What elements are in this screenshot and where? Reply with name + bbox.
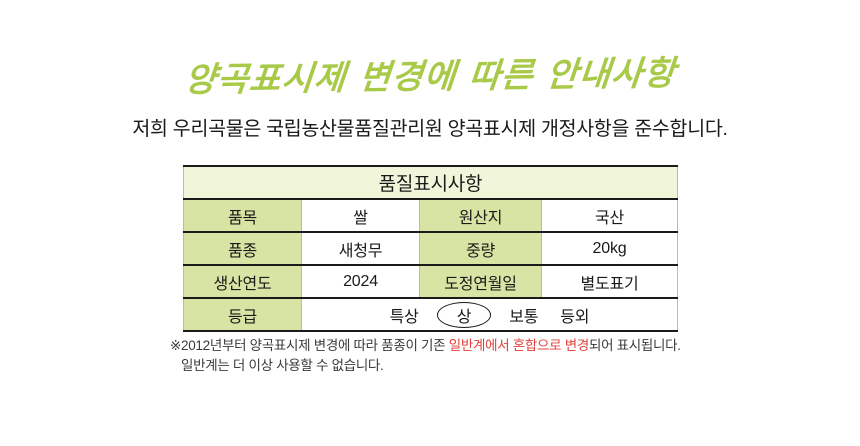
table-row: 품목 쌀 원산지 국산 [184,199,678,232]
page-title: 양곡표시제 변경에 따른 안내사항 [183,55,678,101]
row-label-item: 품목 [184,199,302,232]
row-value-variety: 새청무 [302,232,420,265]
title-container: 양곡표시제 변경에 따른 안내사항 [0,58,860,97]
row-label-origin: 원산지 [420,199,542,232]
notice-page: 양곡표시제 변경에 따른 안내사항 저희 우리곡물은 국립농산물품질관리원 양곡… [0,0,860,446]
footnote-highlight-ilbangye: 일반계에서 [449,338,510,353]
row-label-milling-date: 도정연월일 [420,265,542,298]
grade-option-sang-selected: 상 [437,300,492,330]
grade-option-sang-label: 상 [457,309,472,326]
grade-options: 특상 상 보통 등외 [306,299,673,330]
page-subtitle: 저희 우리곡물은 국립농산물품질관리원 양곡표시제 개정사항을 준수합니다. [132,112,727,141]
row-value-weight: 20kg [542,232,678,265]
footnote-marker: ※ [170,338,181,353]
table-row: 품종 새청무 중량 20kg [184,232,678,265]
quality-table: 품질표시사항 품목 쌀 원산지 국산 품종 새청무 중량 20kg 생산연도 2… [183,165,678,332]
row-label-variety: 품종 [184,232,302,265]
row-value-item: 쌀 [302,199,420,232]
table-header-title: 품질표시사항 [184,166,678,199]
subtitle-container: 저희 우리곡물은 국립농산물품질관리원 양곡표시제 개정사항을 준수합니다. [0,112,860,141]
row-value-origin: 국산 [542,199,678,232]
footnote-highlight-honhap: 혼합으로 [513,338,561,353]
grade-option-botong: 보통 [505,301,542,329]
footnote: ※2012년부터 양곡표시제 변경에 따라 품종이 기존 일반계에서 혼합으로 … [170,336,730,376]
footnote-text-part4: 되어 표시됩니다. [589,338,681,353]
footnote-highlight-byeongyeong: 변경 [565,338,589,353]
row-value-milling-date: 별도표기 [542,265,678,298]
table-row: 생산연도 2024 도정연월일 별도표기 [184,265,678,298]
grade-option-teukssang: 특상 [386,301,423,329]
table-header-row: 품질표시사항 [184,166,678,199]
footnote-text-part1: 2012년부터 양곡표시제 변경에 따라 품종이 기존 [181,338,449,353]
row-value-grade: 특상 상 보통 등외 [302,298,678,331]
table-row-grade: 등급 특상 상 보통 등외 [184,298,678,331]
row-label-production-year: 생산연도 [184,265,302,298]
grade-option-deungoe: 등외 [556,301,593,329]
footnote-line2: 일반계는 더 이상 사용할 수 없습니다. [170,356,730,376]
quality-table-container: 품질표시사항 품목 쌀 원산지 국산 품종 새청무 중량 20kg 생산연도 2… [183,165,677,332]
row-value-production-year: 2024 [302,265,420,298]
row-label-weight: 중량 [420,232,542,265]
row-label-grade: 등급 [184,298,302,331]
